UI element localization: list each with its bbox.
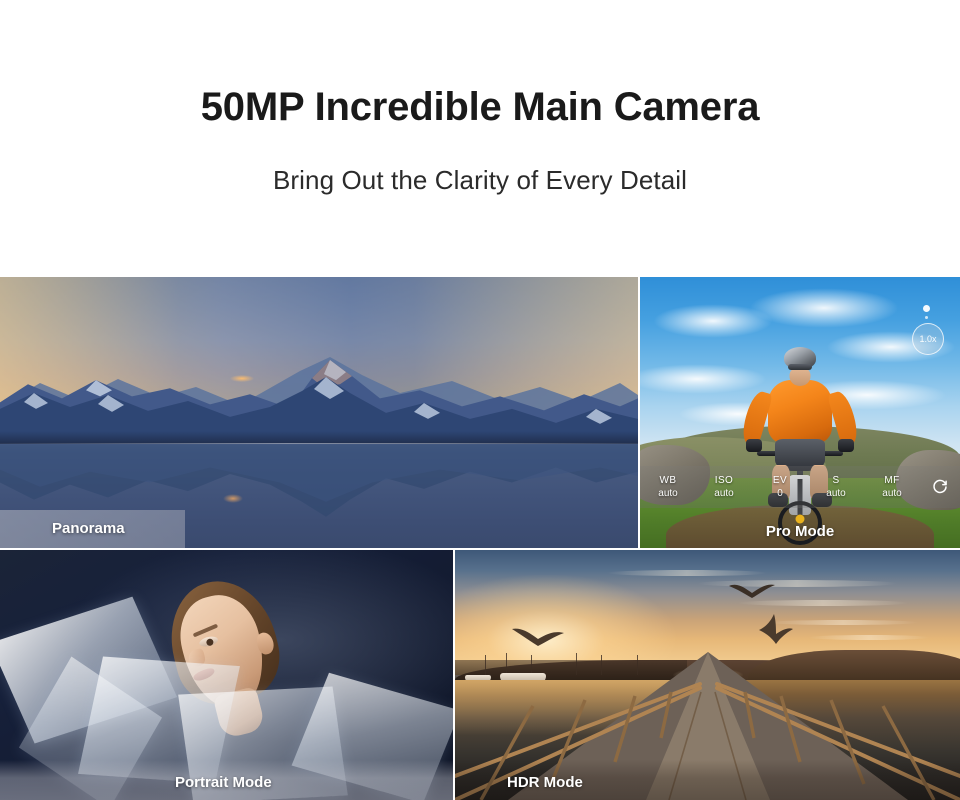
caption-panorama: Panorama: [0, 510, 185, 548]
caption-hdr-mode: HDR Mode: [455, 760, 960, 800]
header-section: 50MP Incredible Main Camera Bring Out th…: [0, 0, 960, 277]
pro-control-mf[interactable]: MF auto: [864, 474, 920, 501]
zoom-level-badge[interactable]: 1.0x: [912, 323, 944, 355]
cloud-icon: [749, 288, 899, 328]
pro-control-s-key: S: [808, 474, 864, 487]
page-title: 50MP Incredible Main Camera: [0, 85, 960, 130]
pro-control-mf-key: MF: [864, 474, 920, 487]
pro-control-iso-value: auto: [696, 487, 752, 501]
caption-portrait-mode: Portrait Mode: [0, 760, 453, 800]
mode-tile-portrait[interactable]: Portrait Mode: [0, 550, 453, 800]
pro-control-ev[interactable]: EV 0: [752, 474, 808, 501]
camera-mode-grid: Panorama: [0, 277, 960, 800]
mode-tile-pro[interactable]: 1.0x WB auto ISO auto EV 0 S: [640, 277, 960, 548]
caption-pro-mode: Pro Mode: [640, 523, 960, 540]
pro-mode-photo: 1.0x WB auto ISO auto EV 0 S: [640, 277, 960, 548]
pro-control-ev-key: EV: [752, 474, 808, 487]
pro-control-s-value: auto: [808, 487, 864, 501]
zoom-slider-dot-icon: [923, 305, 930, 312]
pro-control-mf-value: auto: [864, 487, 920, 501]
reset-circular-arrow-icon: [931, 478, 949, 496]
pro-control-iso[interactable]: ISO auto: [696, 474, 752, 501]
bird-icon: [728, 580, 776, 602]
pro-control-s[interactable]: S auto: [808, 474, 864, 501]
bird-icon: [758, 613, 794, 649]
panorama-photo: [0, 277, 638, 548]
panorama-sun-reflection: [223, 494, 243, 503]
camera-feature-page: 50MP Incredible Main Camera Bring Out th…: [0, 0, 960, 800]
mode-tile-panorama[interactable]: Panorama: [0, 277, 638, 548]
mode-tile-hdr[interactable]: HDR Mode: [455, 550, 960, 800]
pro-control-bar: WB auto ISO auto EV 0 S auto: [640, 466, 960, 508]
pro-control-wb-key: WB: [640, 474, 696, 487]
pro-control-iso-key: ISO: [696, 474, 752, 487]
hdr-cloud-streak: [809, 635, 929, 640]
page-subtitle: Bring Out the Clarity of Every Detail: [0, 165, 960, 196]
pro-reset-button[interactable]: [920, 478, 960, 496]
pro-control-wb-value: auto: [640, 487, 696, 501]
pro-control-ev-value: 0: [752, 487, 808, 501]
zoom-slider-dot-small-icon: [925, 316, 928, 319]
bird-icon: [511, 625, 565, 649]
pro-control-wb[interactable]: WB auto: [640, 474, 696, 501]
